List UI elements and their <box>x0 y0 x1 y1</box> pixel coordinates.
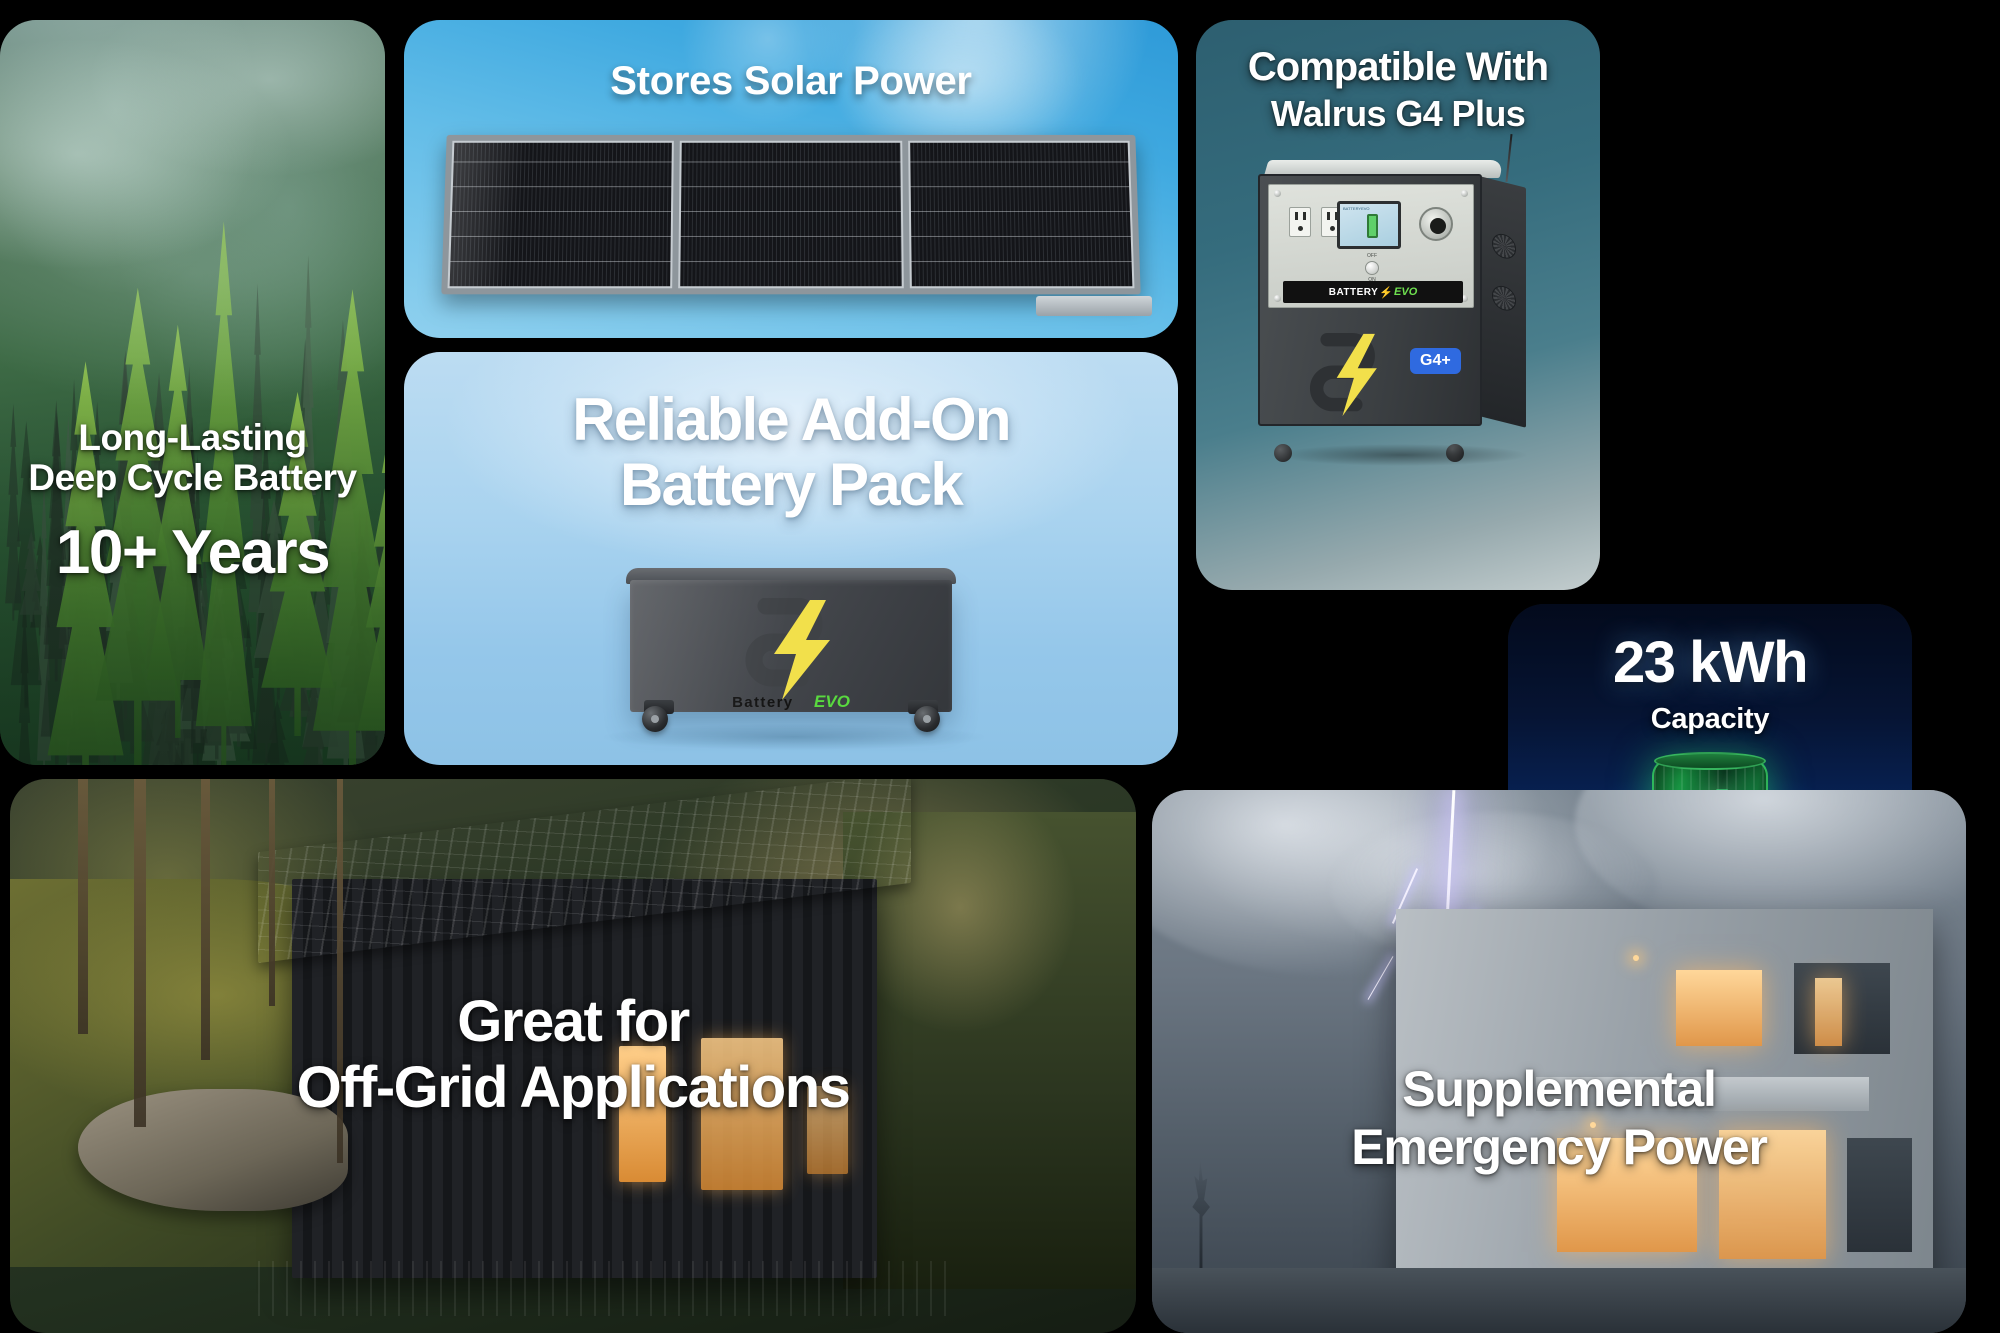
wordmark-evo: EVO <box>814 692 850 711</box>
lcd-display[interactable]: BATTERYEVO <box>1337 201 1401 249</box>
unit-side-panel <box>1480 176 1526 427</box>
cabinet-body: Battery EVO <box>630 580 952 712</box>
caster-wheel <box>642 706 668 732</box>
fan-vent-icon <box>1492 231 1516 261</box>
forest-caption-years: 10+ Years <box>0 520 385 587</box>
unit-brand-plate: BATTERY ⚡ EVO <box>1283 281 1463 303</box>
wooden-deck <box>258 1261 956 1316</box>
emergency-caption-line2: Emergency Power <box>1152 1120 1966 1174</box>
walrus-caption-line2: Walrus G4 Plus <box>1196 95 1600 134</box>
capacity-label: Capacity <box>1508 704 1912 735</box>
solar-panel-array <box>441 135 1140 294</box>
emergency-caption-line1: Supplemental <box>1152 1062 1966 1116</box>
cabinet-wordmark: Battery EVO <box>630 692 952 712</box>
panel-long-lasting-battery[interactable]: Long-Lasting Deep Cycle Battery 10+ Year… <box>0 20 385 765</box>
infographic-canvas: Long-Lasting Deep Cycle Battery 10+ Year… <box>0 0 2000 1333</box>
forest-caption-primary: Long-Lasting Deep Cycle Battery <box>0 418 385 498</box>
panel-emergency-power[interactable]: Supplemental Emergency Power <box>1152 790 1966 1333</box>
unit-brand-label: BATTERY <box>1329 287 1379 298</box>
lightning-bolt-icon: ⚡ <box>1379 286 1393 299</box>
control-face: BATTERYEVO OFF ON BATTERY ⚡ EVO <box>1268 184 1474 308</box>
caster-wheel <box>914 706 940 732</box>
exterior-light-icon <box>1633 955 1639 961</box>
panel-stores-solar-power[interactable]: Stores Solar Power <box>404 20 1178 338</box>
solar-panel-stand <box>1036 296 1152 316</box>
fan-vent-icon <box>1492 283 1516 313</box>
walrus-caption-line1: Compatible With <box>1196 46 1600 89</box>
power-button[interactable] <box>1365 261 1379 275</box>
foreground-ground <box>1152 1268 1966 1333</box>
panel-reliable-add-on-battery-pack[interactable]: Battery EVO Reliable Add-On Battery Pack <box>404 352 1178 765</box>
battery-cabinet-product: Battery EVO <box>626 568 956 728</box>
ac-outlet-icon[interactable] <box>1289 207 1311 237</box>
batteryevo-logo-icon <box>726 598 866 702</box>
panel-compatible-walrus-g4-plus[interactable]: BATTERYEVO OFF ON BATTERY ⚡ EVO <box>1196 20 1600 590</box>
offgrid-caption-line2: Off-Grid Applications <box>10 1057 1136 1120</box>
batteryevo-logo-icon <box>1304 332 1400 418</box>
capacity-value: 23 kWh <box>1508 632 1912 695</box>
solar-caption: Stores Solar Power <box>404 60 1178 103</box>
twist-lock-outlet-icon[interactable] <box>1419 207 1453 241</box>
panel-off-grid-applications[interactable]: Great for Off-Grid Applications <box>10 779 1136 1333</box>
bottom-vignette <box>0 20 385 765</box>
walrus-g4-plus-unit: BATTERYEVO OFF ON BATTERY ⚡ EVO <box>1258 160 1526 450</box>
forest-image <box>0 20 385 765</box>
g4-plus-badge: G4+ <box>1410 348 1461 374</box>
wordmark-battery: Battery <box>732 694 794 711</box>
offgrid-caption-line1: Great for <box>10 991 1136 1054</box>
unit-brand-accent: EVO <box>1394 286 1417 298</box>
main-caption: Reliable Add-On Battery Pack <box>404 388 1178 518</box>
